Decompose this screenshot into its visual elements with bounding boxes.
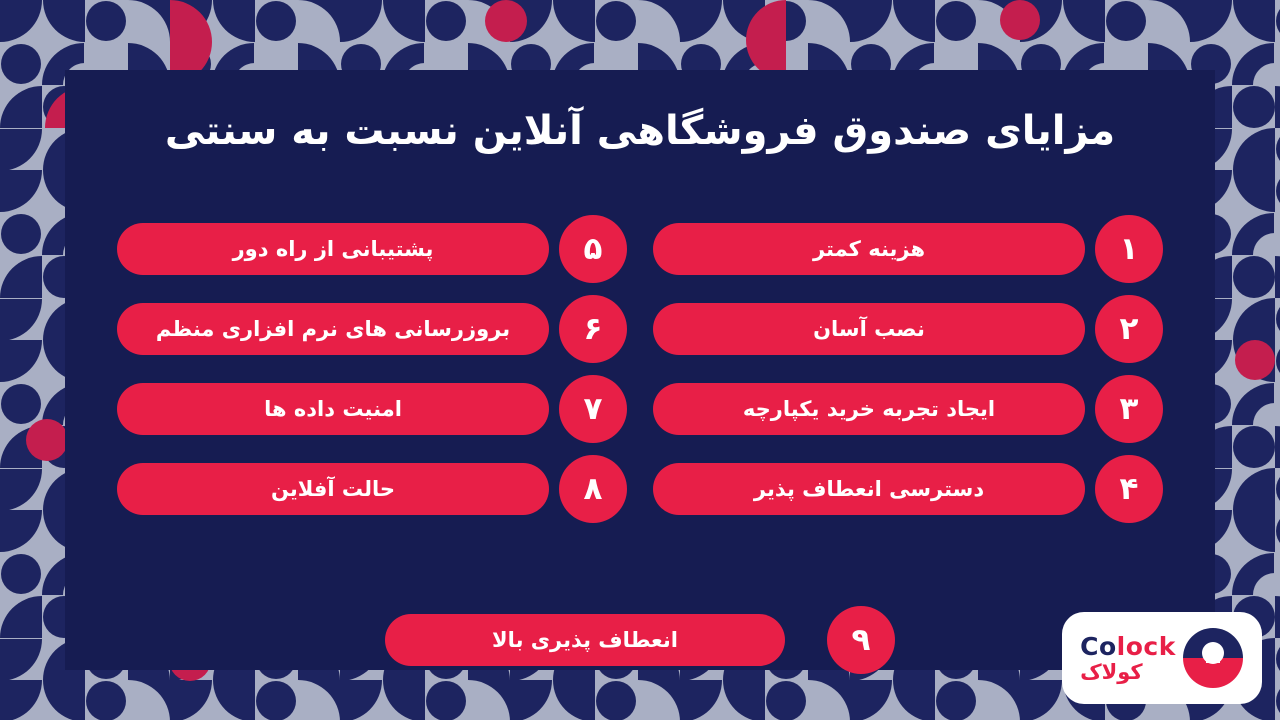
list-item[interactable]: ۴ دسترسی انعطاف پذیر bbox=[653, 455, 1163, 523]
list-item[interactable]: ۵ پشتیبانی از راه دور bbox=[117, 215, 627, 283]
logo-persian-name: کولاک bbox=[1080, 662, 1143, 683]
item-number-badge: ۱ bbox=[1095, 215, 1163, 283]
infographic-stage: مزایای صندوق فروشگاهی آنلاین نسبت به سنت… bbox=[0, 0, 1280, 720]
item-number-badge: ۳ bbox=[1095, 375, 1163, 443]
item-label-pill[interactable]: نصب آسان bbox=[653, 303, 1085, 355]
column-left: ۵ پشتیبانی از راه دور ۶ بروزرسانی های نر… bbox=[117, 215, 627, 545]
item-number-badge: ۹ bbox=[827, 606, 895, 674]
logo-word-second: lock bbox=[1117, 632, 1176, 661]
main-panel: مزایای صندوق فروشگاهی آنلاین نسبت به سنت… bbox=[65, 70, 1215, 670]
list-item[interactable]: ۲ نصب آسان bbox=[653, 295, 1163, 363]
brand-logo[interactable]: Colock کولاک bbox=[1062, 612, 1262, 704]
bottom-row: ۹ انعطاف پذیری بالا bbox=[65, 606, 1215, 674]
logo-word-first: Co bbox=[1080, 632, 1117, 661]
item-number-badge: ۵ bbox=[559, 215, 627, 283]
item-label-pill[interactable]: انعطاف پذیری بالا bbox=[385, 614, 785, 666]
item-number-badge: ۶ bbox=[559, 295, 627, 363]
item-number-badge: ۲ bbox=[1095, 295, 1163, 363]
list-item[interactable]: ۷ امنیت داده ها bbox=[117, 375, 627, 443]
item-label-pill[interactable]: حالت آفلاین bbox=[117, 463, 549, 515]
column-right: ۱ هزینه کمتر ۲ نصب آسان ۳ ایجاد تجربه خر… bbox=[653, 215, 1163, 545]
item-label-pill[interactable]: پشتیبانی از راه دور bbox=[117, 223, 549, 275]
item-number-badge: ۷ bbox=[559, 375, 627, 443]
list-item[interactable]: ۳ ایجاد تجربه خرید یکپارچه bbox=[653, 375, 1163, 443]
item-label-pill[interactable]: ایجاد تجربه خرید یکپارچه bbox=[653, 383, 1085, 435]
logo-wordmark: Colock bbox=[1080, 634, 1176, 659]
item-number-badge: ۴ bbox=[1095, 455, 1163, 523]
item-label-pill[interactable]: بروزرسانی های نرم افزاری منظم bbox=[117, 303, 549, 355]
item-label-pill[interactable]: دسترسی انعطاف پذیر bbox=[653, 463, 1085, 515]
list-item[interactable]: ۹ انعطاف پذیری بالا bbox=[385, 606, 895, 674]
list-item[interactable]: ۶ بروزرسانی های نرم افزاری منظم bbox=[117, 295, 627, 363]
items-columns: ۱ هزینه کمتر ۲ نصب آسان ۳ ایجاد تجربه خر… bbox=[65, 215, 1215, 545]
page-title: مزایای صندوق فروشگاهی آنلاین نسبت به سنت… bbox=[65, 104, 1215, 158]
item-number-badge: ۸ bbox=[559, 455, 627, 523]
item-label-pill[interactable]: امنیت داده ها bbox=[117, 383, 549, 435]
list-item[interactable]: ۱ هزینه کمتر bbox=[653, 215, 1163, 283]
logo-text-block: Colock کولاک bbox=[1080, 634, 1176, 683]
list-item[interactable]: ۸ حالت آفلاین bbox=[117, 455, 627, 523]
colock-circle-mark-icon bbox=[1182, 627, 1244, 689]
item-label-pill[interactable]: هزینه کمتر bbox=[653, 223, 1085, 275]
